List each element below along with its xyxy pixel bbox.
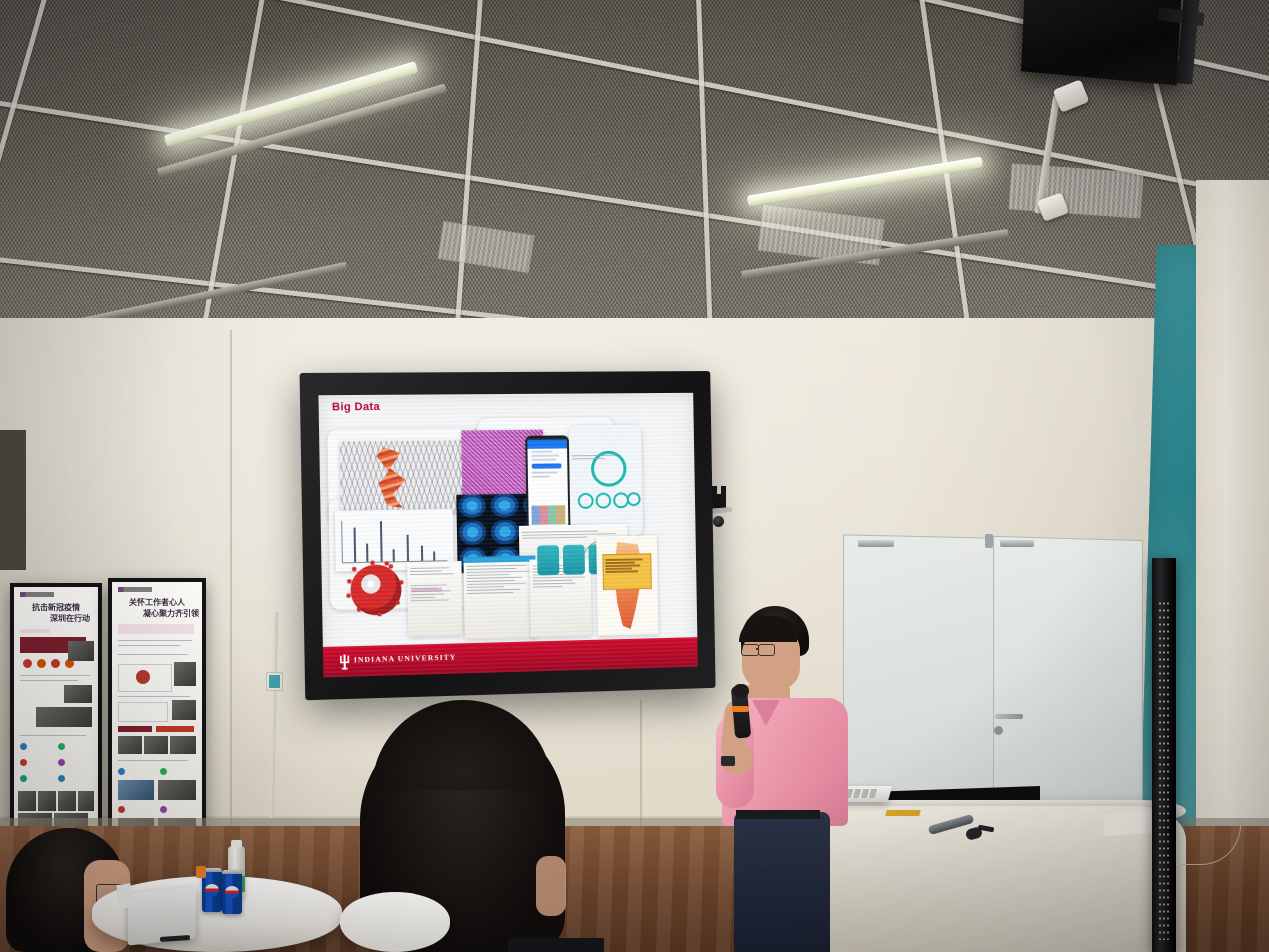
round-table-secondary — [340, 892, 450, 952]
poster-right-logo — [118, 587, 152, 592]
pepsi-can-2[interactable] — [222, 870, 242, 914]
presenter-trousers — [734, 812, 830, 952]
social-app-header — [527, 439, 567, 448]
poster-right-headline-2: 凝心聚力齐引领 — [112, 608, 202, 619]
social-photo-strip — [531, 505, 565, 525]
poster-left: 抗击新冠疫情 深圳在行动 — [10, 583, 102, 845]
poster-right: 关怀工作者心人 凝心聚力齐引领 — [108, 578, 206, 846]
speaker-column-grille-icon — [1158, 600, 1169, 940]
metric-dot-1-icon — [578, 493, 594, 509]
indiana-county-map-image — [596, 535, 658, 635]
app-icon-1 — [537, 545, 559, 575]
mri-slice — [456, 494, 488, 520]
poster-left-logo — [20, 592, 54, 597]
bottle-cap — [231, 840, 242, 847]
metric-dot-2-icon — [595, 493, 611, 509]
poster-right-photo-5 — [170, 736, 196, 754]
poster-left-photo-3 — [36, 707, 92, 727]
slide-collage — [319, 409, 698, 643]
poster-right-subband — [118, 624, 194, 634]
poster-left-subband — [20, 629, 50, 633]
door-pivot-center — [985, 534, 993, 548]
can-top-2 — [222, 870, 242, 874]
poster-left-dot-3 — [51, 659, 60, 668]
presenter-clicker[interactable] — [721, 756, 735, 766]
poster-left-photo-2 — [64, 685, 92, 703]
smartphone-social-media-image — [525, 435, 570, 531]
mri-slice — [489, 494, 521, 520]
poster-left-photo-1 — [68, 641, 94, 661]
laptop-foreground-bottom — [508, 938, 604, 952]
poster-left-dot-2 — [37, 659, 46, 668]
presenter-belt — [736, 810, 820, 819]
ehr-table-image — [463, 556, 536, 640]
slide-footer-banner: INDIANA UNIVERSITY — [323, 637, 698, 677]
activity-ring-icon — [591, 451, 627, 487]
poster-right-photo-2 — [172, 700, 196, 720]
social-post-button — [532, 463, 561, 468]
dna-helix-image — [340, 440, 471, 514]
room-photo: Big Data — [0, 0, 1269, 952]
pepsi-logo-1-icon — [205, 884, 219, 896]
poster-right-photo-3 — [118, 736, 142, 754]
wall-seam-2 — [640, 700, 642, 830]
podium-label-strip — [885, 810, 920, 816]
presenter-glasses-right — [758, 644, 775, 656]
projection-display[interactable]: Big Data — [300, 371, 716, 700]
medical-record-form-image — [407, 561, 463, 637]
poster-left-headline-1: 抗击新冠疫情 — [14, 602, 98, 613]
phone-screen — [527, 439, 568, 527]
switch-label-icon — [269, 675, 280, 688]
mri-slice — [489, 520, 521, 546]
door-handle[interactable] — [995, 714, 1023, 719]
door-closer-right — [1000, 540, 1034, 547]
slide-footer-org: INDIANA UNIVERSITY — [354, 652, 457, 664]
poster-left-headline-2: 深圳在行动 — [14, 613, 98, 624]
wall-camera-arm-a — [712, 486, 717, 500]
wall-switch-plate[interactable] — [266, 672, 283, 691]
poster-left-photo-6 — [58, 791, 76, 811]
poster-left-photo-5 — [38, 791, 56, 811]
mri-slice — [457, 521, 489, 547]
microphone-head-icon — [733, 684, 749, 698]
wall-seam-1 — [230, 330, 232, 830]
presenter-glasses-left — [741, 644, 759, 656]
right-pillar — [1196, 180, 1269, 880]
microphone-band — [732, 706, 749, 712]
presenter-glasses-bridge — [756, 648, 759, 650]
slide-surface: Big Data — [318, 393, 697, 678]
slide-title: Big Data — [332, 401, 380, 414]
app-icon-2 — [563, 545, 585, 575]
table-orange-item — [196, 866, 206, 878]
iu-trident-logo — [339, 654, 349, 669]
wall-camera-lens-icon — [713, 516, 724, 527]
poster-right-photo-6 — [118, 780, 154, 800]
metric-dot-4-icon — [627, 492, 641, 506]
poster-left-dot-1 — [23, 659, 32, 668]
audience-center-ear — [536, 856, 566, 916]
door-lock-icon — [994, 726, 1003, 735]
ceiling-vent-2 — [1009, 163, 1144, 218]
map-legend-box — [602, 553, 652, 590]
health-dashboard-image — [569, 425, 644, 537]
poster-right-photo-7 — [158, 780, 196, 800]
poster-left-photo-4 — [18, 791, 36, 811]
poster-right-photo-1 — [174, 662, 196, 686]
wall-camera-arm-b — [721, 486, 726, 500]
poster-left-photo-7 — [78, 791, 94, 811]
pepsi-logo-2-icon — [225, 886, 239, 898]
door-closer-left — [858, 540, 894, 547]
dna-strand-icon — [376, 447, 411, 508]
poster-right-photo-4 — [144, 736, 168, 754]
wall-recess-left — [0, 430, 26, 570]
poster-right-headline-1: 关怀工作者心人 — [112, 597, 202, 608]
